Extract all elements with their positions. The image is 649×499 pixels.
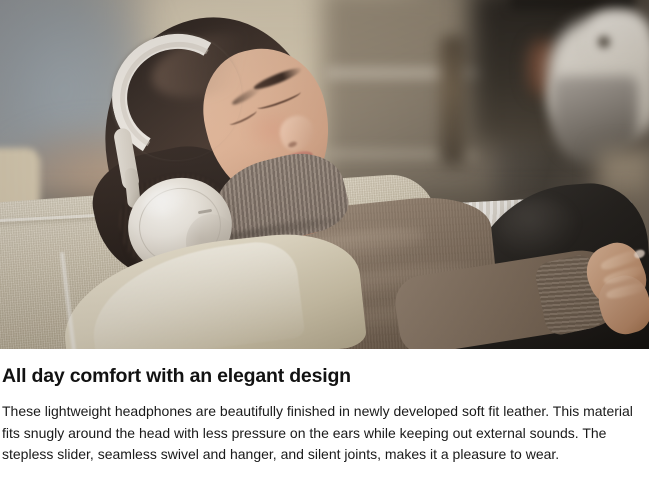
- background-dark-bar: [510, 0, 635, 10]
- background-bottle: [440, 36, 466, 166]
- feature-paragraph: These lightweight headphones are beautif…: [2, 401, 641, 466]
- feature-headline: All day comfort with an elegant design: [2, 349, 641, 388]
- feature-text-block: All day comfort with an elegant design T…: [0, 349, 649, 499]
- hero-image: [0, 0, 649, 349]
- photo-scene: [0, 0, 649, 349]
- product-feature-page: All day comfort with an elegant design T…: [0, 0, 649, 499]
- stand-mixer-head: [588, 10, 649, 62]
- stand-mixer-knob: [598, 36, 610, 48]
- trousers-highlight: [498, 198, 578, 258]
